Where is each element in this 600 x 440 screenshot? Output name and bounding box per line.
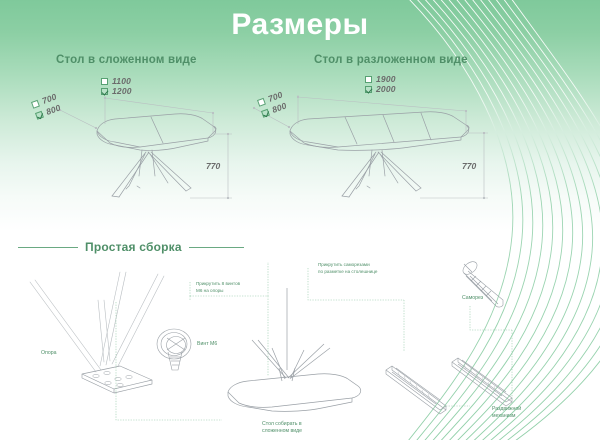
assembly-note-2: Прикрутить саморезами по разметке на сто… xyxy=(318,262,377,275)
assembly-note-2-line1: Прикрутить саморезами xyxy=(318,262,370,267)
divider-right xyxy=(189,247,244,248)
section-heading-unfolded: Стол в разложенном виде xyxy=(314,54,468,66)
option-value: 2000 xyxy=(376,84,396,94)
divider-left xyxy=(18,247,78,248)
part-label-bolt: Винт М6 xyxy=(197,341,217,348)
assembly-note-1: Прикрутить 8 винтов М6 на опоры xyxy=(196,281,240,294)
unfolded-width-option-1[interactable]: 1900 xyxy=(365,74,396,84)
checkbox-checked-icon[interactable] xyxy=(365,86,372,93)
checkbox-checked-icon[interactable] xyxy=(35,110,44,119)
checkbox-checked-icon[interactable] xyxy=(101,88,108,95)
infographic-page: Размеры Стол в сложенном виде Стол в раз… xyxy=(0,0,600,440)
assembly-section-header: Простая сборка xyxy=(18,239,518,255)
mechanism-line1: Раздвижной xyxy=(492,406,521,412)
checkbox-icon[interactable] xyxy=(101,78,108,85)
assembly-note-1-line1: Прикрутить 8 винтов xyxy=(196,281,240,286)
section-heading-folded: Стол в сложенном виде xyxy=(56,54,197,66)
tabletop-instruction-line1: Стол собирать в xyxy=(262,421,302,427)
page-title: Размеры xyxy=(0,8,600,42)
folded-width-option-2[interactable]: 1200 xyxy=(101,86,132,96)
option-value: 1200 xyxy=(112,86,132,96)
folded-height-value: 770 xyxy=(206,161,220,171)
drawing-assembly xyxy=(0,0,600,440)
checkbox-icon[interactable] xyxy=(257,97,266,106)
assembly-heading: Простая сборка xyxy=(85,240,182,254)
assembly-note-2-line2: по разметке на столешнице xyxy=(318,269,377,274)
checkbox-icon[interactable] xyxy=(31,99,40,108)
part-label-tabletop-instruction: Стол собирать в сложенном виде xyxy=(262,421,302,436)
option-value: 1900 xyxy=(376,74,396,84)
assembly-note-1-line2: М6 на опоры xyxy=(196,288,223,293)
folded-width-option-1[interactable]: 1100 xyxy=(101,76,131,86)
part-label-support: Опора xyxy=(41,350,57,357)
checkbox-checked-icon[interactable] xyxy=(261,108,270,117)
tabletop-instruction-line2: сложенном виде xyxy=(262,428,302,434)
part-label-screw: Саморез xyxy=(462,295,483,302)
mechanism-line2: механизм xyxy=(492,413,515,419)
checkbox-icon[interactable] xyxy=(365,76,372,83)
part-label-mechanism: Раздвижной механизм xyxy=(492,406,521,421)
unfolded-width-option-2[interactable]: 2000 xyxy=(365,84,396,94)
option-value: 1100 xyxy=(112,76,131,86)
unfolded-height-value: 770 xyxy=(462,161,476,171)
